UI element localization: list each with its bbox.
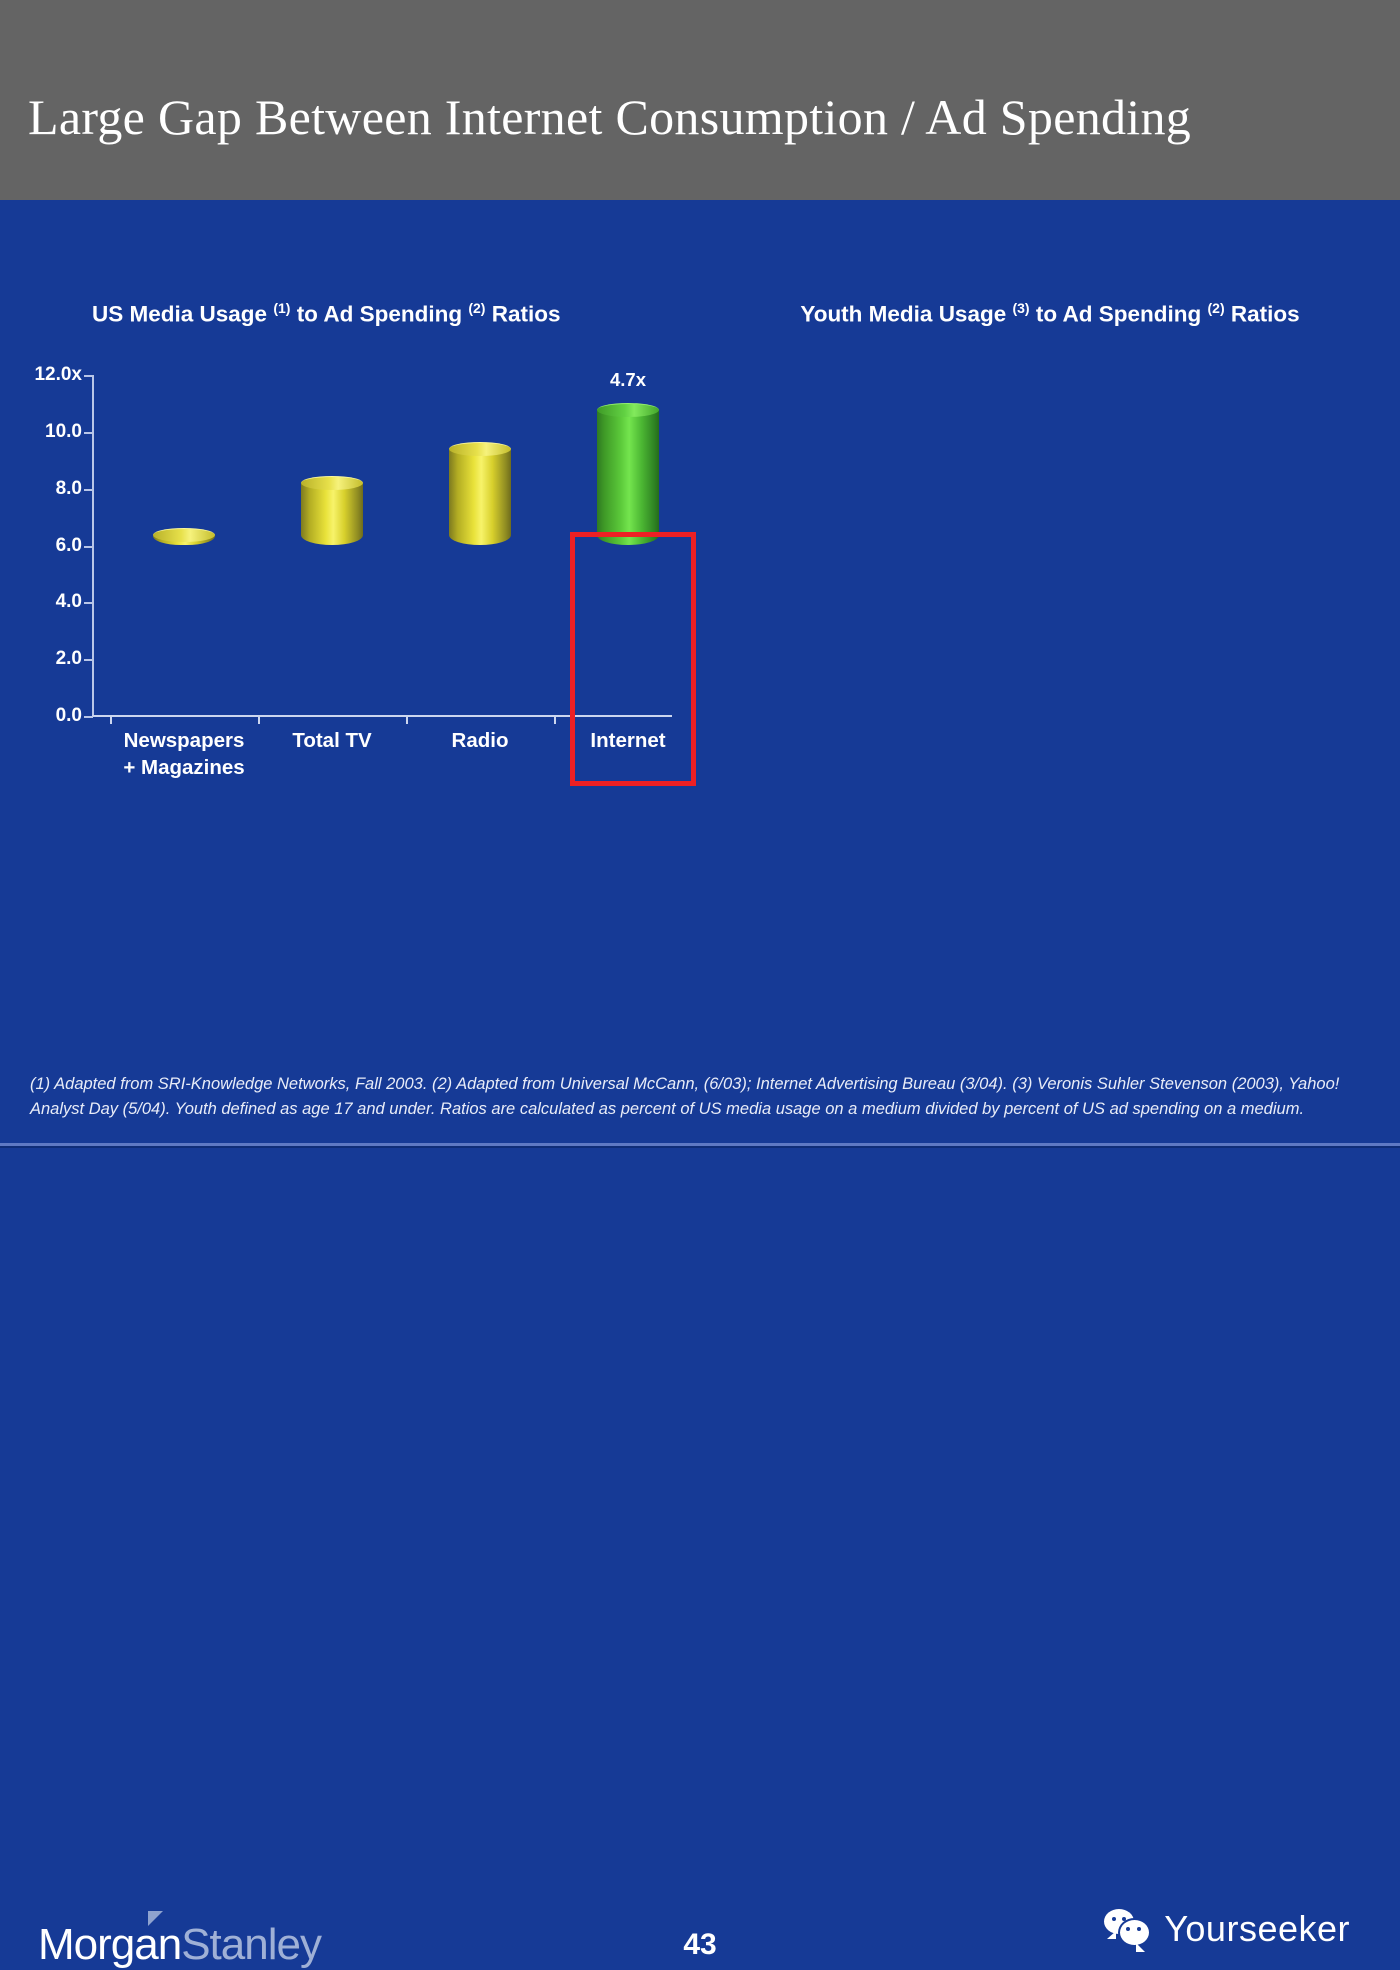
chart-left-title-superscript-2: (2) bbox=[468, 300, 485, 316]
category-label-line: Total TV bbox=[258, 727, 406, 754]
bar-data-label: 4.7x bbox=[610, 369, 646, 391]
chart-right-title-part1: Youth Media Usage bbox=[800, 302, 1012, 327]
y-axis-tick bbox=[84, 546, 93, 548]
y-axis-tick bbox=[84, 659, 93, 661]
chart-left-title: US Media Usage (1) to Ad Spending (2) Ra… bbox=[0, 290, 700, 333]
watermark: Yourseeker bbox=[1104, 1906, 1350, 1952]
category-label-line: Newspapers bbox=[110, 727, 258, 754]
wechat-bubble-front bbox=[1118, 1918, 1151, 1947]
x-axis-tick bbox=[554, 715, 556, 724]
bar bbox=[449, 443, 511, 545]
bar bbox=[153, 529, 215, 545]
x-axis-tick bbox=[406, 715, 408, 724]
y-axis-tick bbox=[84, 716, 93, 718]
footnote-text: (1) Adapted from SRI-Knowledge Networks,… bbox=[30, 1072, 1370, 1122]
category-label: Total TV bbox=[258, 727, 406, 754]
bar-body bbox=[449, 450, 511, 545]
chart-panel-right: Youth Media Usage (3) to Ad Spending (2)… bbox=[700, 200, 1400, 942]
x-axis-tick bbox=[110, 715, 112, 724]
y-axis-label: 4.0 bbox=[4, 591, 82, 613]
bar-body bbox=[597, 411, 659, 545]
slide: Large Gap Between Internet Consumption /… bbox=[0, 0, 1400, 1042]
chart-right-title-part3: Ratios bbox=[1225, 302, 1300, 327]
category-label-line: Radio bbox=[406, 727, 554, 754]
category-label: Newspapers+ Magazines bbox=[110, 727, 258, 781]
bar-body bbox=[301, 484, 363, 545]
wechat-icon bbox=[1104, 1909, 1152, 1949]
category-label-line: + Magazines bbox=[110, 754, 258, 781]
chart-left-title-part1: US Media Usage bbox=[92, 302, 273, 327]
chart-left-title-superscript-1: (1) bbox=[273, 300, 290, 316]
chart-right-title-part2: to Ad Spending bbox=[1030, 302, 1208, 327]
y-axis-label: 10.0 bbox=[4, 421, 82, 443]
y-axis-tick bbox=[84, 432, 93, 434]
category-label: Radio bbox=[406, 727, 554, 754]
logo-triangle-icon bbox=[148, 1911, 163, 1926]
chart-left-plot: 12.0x10.08.06.04.02.00.0 4.7x Newspapers… bbox=[92, 375, 672, 545]
bar-top-ellipse bbox=[301, 476, 363, 490]
chart-panel-left: US Media Usage (1) to Ad Spending (2) Ra… bbox=[0, 200, 700, 942]
page-title: Large Gap Between Internet Consumption /… bbox=[28, 88, 1378, 146]
chart-left-title-part2: to Ad Spending bbox=[290, 302, 468, 327]
chart-left-title-part3: Ratios bbox=[485, 302, 560, 327]
y-axis-label: 6.0 bbox=[4, 535, 82, 557]
chart-right-title: Youth Media Usage (3) to Ad Spending (2)… bbox=[700, 290, 1400, 333]
slide-footer: MorganStanley 43 Yourseeker bbox=[0, 948, 1400, 1042]
bar-top-ellipse bbox=[449, 442, 511, 456]
chart-right-title-superscript-2: (2) bbox=[1208, 300, 1225, 316]
slide-header: Large Gap Between Internet Consumption /… bbox=[0, 0, 1400, 200]
x-axis-tick bbox=[258, 715, 260, 724]
bar bbox=[301, 477, 363, 545]
y-axis-label: 0.0 bbox=[4, 705, 82, 727]
y-axis-tick bbox=[84, 489, 93, 491]
y-axis-labels: 12.0x10.08.06.04.02.00.0 bbox=[0, 375, 82, 716]
y-axis-tick bbox=[84, 375, 93, 377]
y-axis-label: 12.0x bbox=[4, 364, 82, 386]
y-axis-tick bbox=[84, 602, 93, 604]
bar: 4.7x bbox=[597, 404, 659, 545]
slide-body: US Media Usage (1) to Ad Spending (2) Ra… bbox=[0, 200, 1400, 942]
highlight-box-internet bbox=[570, 532, 696, 786]
y-axis-label: 8.0 bbox=[4, 478, 82, 500]
y-axis-label: 2.0 bbox=[4, 648, 82, 670]
chart-right-title-superscript-3: (3) bbox=[1012, 300, 1029, 316]
footnote-divider-shadow bbox=[0, 1146, 1400, 1148]
watermark-label: Yourseeker bbox=[1164, 1908, 1350, 1950]
